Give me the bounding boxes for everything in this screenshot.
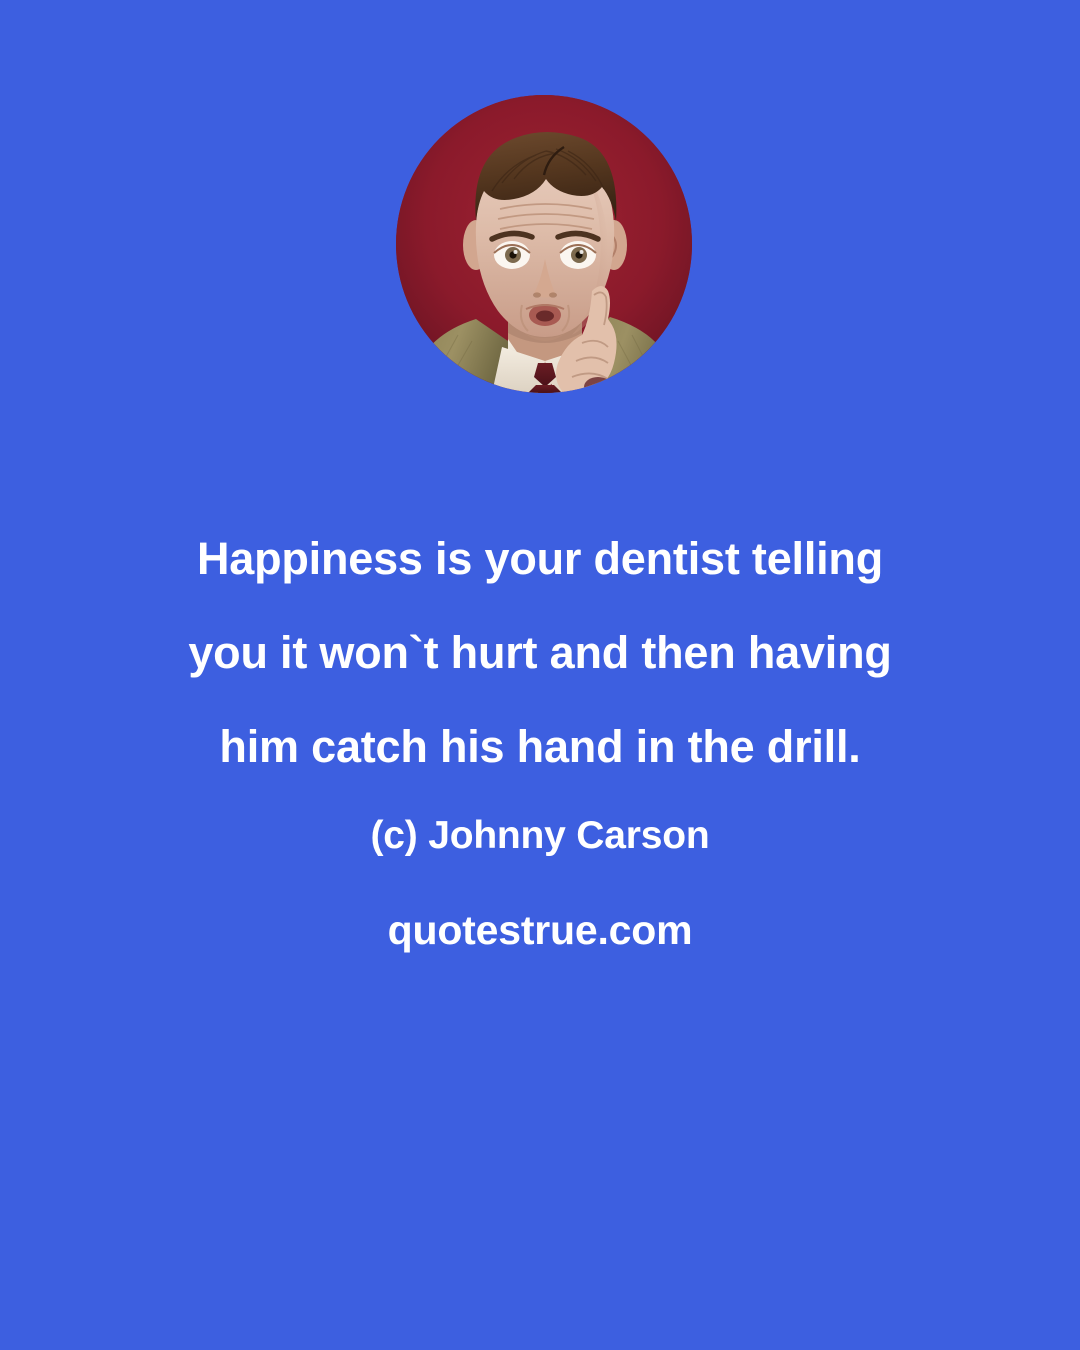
portrait-avatar bbox=[396, 95, 692, 393]
quote-attribution: (c) Johnny Carson bbox=[0, 810, 1080, 862]
source-website: quotestrue.com bbox=[0, 903, 1080, 957]
nostril-right bbox=[549, 292, 557, 297]
quote-card: Happiness is your dentist telling you it… bbox=[0, 0, 1080, 1350]
portrait-illustration bbox=[396, 95, 692, 393]
quote-text: Happiness is your dentist telling you it… bbox=[0, 512, 1080, 794]
eye-left bbox=[494, 241, 530, 269]
quote-line-3: him catch his hand in the drill. bbox=[0, 700, 1080, 794]
nostril-left bbox=[533, 292, 541, 297]
quote-line-2: you it won`t hurt and then having bbox=[0, 606, 1080, 700]
quote-line-1: Happiness is your dentist telling bbox=[0, 512, 1080, 606]
eye-right bbox=[560, 241, 596, 269]
mouth-opening bbox=[536, 311, 554, 322]
